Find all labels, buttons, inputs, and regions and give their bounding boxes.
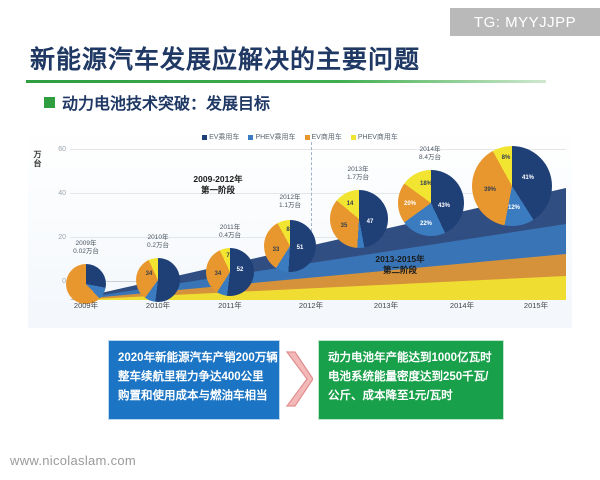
x-tick-2009: 2009年 xyxy=(74,300,98,311)
y-axis-title: 万台 xyxy=(32,150,43,168)
legend-item-ev-passenger: EV乘用车 xyxy=(202,132,239,142)
pie-2011-pct-phev-comm: 7 xyxy=(226,253,229,259)
annotation-stage-one: 2009-2012年 第一阶段 xyxy=(193,174,242,197)
pie-2015-pct-ev-comm: 39% xyxy=(484,187,496,193)
pie-caption-2009: 2009年 0.02万台 xyxy=(73,240,99,256)
pie-2015-pct-phev-comm: 8% xyxy=(502,155,511,161)
pie-2010-slice-pct: 34 xyxy=(146,271,153,277)
chart-panel: EV乘用车 PHEV乘用车 EV商用车 PHEV商用车 万台 60 40 20 … xyxy=(28,128,572,328)
chart-legend: EV乘用车 PHEV乘用车 EV商用车 PHEV商用车 xyxy=(28,132,572,142)
pie-2010 xyxy=(136,258,180,302)
pie-2011 xyxy=(206,248,254,296)
x-tick-2011: 2011年 xyxy=(218,300,242,311)
pie-year-label: 2014年 xyxy=(420,146,441,153)
pie-2012 xyxy=(264,220,316,272)
pie-total-label: 8.4万台 xyxy=(419,154,441,161)
chevron-right-icon xyxy=(285,348,313,410)
pie-2012-pct-ev-comm: 33 xyxy=(273,247,280,253)
y-tick-40: 40 xyxy=(50,190,66,197)
pie-2015 xyxy=(472,146,552,226)
section-subheading: 动力电池技术突破：发展目标 xyxy=(44,90,270,114)
pie-2013 xyxy=(330,190,388,248)
slide-canvas: TG: MYYJJPP 新能源汽车发展应解决的主要问题 动力电池技术突破：发展目… xyxy=(0,0,600,480)
pie-total-label: 0.02万台 xyxy=(73,248,99,255)
legend-label: EV乘用车 xyxy=(209,132,239,142)
pie-2011-pct-ev-pass: 52 xyxy=(237,267,244,273)
gridline xyxy=(70,149,566,150)
goal-line: 电池系统能量密度达到250千瓦/ xyxy=(328,368,494,387)
stage-two-label: 第二阶段 xyxy=(383,265,417,275)
pie-2014-pct-phev-comm: 18% xyxy=(420,181,432,187)
site-watermark: www.nicolaslam.com xyxy=(10,453,136,468)
pie-year-label: 2009年 xyxy=(76,240,97,247)
pie-caption-2013: 2013年 1.7万台 xyxy=(347,166,369,182)
pie-2012-pct-ev-pass: 51 xyxy=(297,245,304,251)
goal-box-battery-targets: 动力电池年产能达到1000亿瓦时 电池系统能量密度达到250千瓦/ 公斤、成本降… xyxy=(318,340,504,420)
y-tick-0: 0 xyxy=(50,278,66,285)
pie-total-label: 0.4万台 xyxy=(219,232,241,239)
pie-2014-pct-ev-comm: 20% xyxy=(404,201,416,207)
y-tick-60: 60 xyxy=(50,146,66,153)
pie-year-label: 2011年 xyxy=(220,224,240,231)
y-tick-20: 20 xyxy=(50,234,66,241)
pie-caption-2012: 2012年 1.1万台 xyxy=(279,194,301,210)
goal-line: 整车续航里程力争达400公里 xyxy=(118,368,270,387)
legend-label: PHEV乘用车 xyxy=(255,132,295,142)
legend-swatch-icon xyxy=(248,135,253,140)
pie-2015-pct-phev-pass: 12% xyxy=(508,205,520,211)
pie-2013-pct-phev-comm: 14 xyxy=(347,201,354,207)
legend-swatch-icon xyxy=(305,135,310,140)
page-title: 新能源汽车发展应解决的主要问题 xyxy=(30,40,420,76)
stage-two-period: 2013-2015年 xyxy=(375,254,424,264)
x-tick-2015: 2015年 xyxy=(524,300,548,311)
legend-swatch-icon xyxy=(351,135,356,140)
goal-line: 购置和使用成本与燃油车相当 xyxy=(118,387,270,406)
section-subheading-label: 动力电池技术突破：发展目标 xyxy=(62,90,270,114)
pie-total-label: 1.7万台 xyxy=(347,174,369,181)
legend-item-phev-passenger: PHEV乘用车 xyxy=(248,132,295,142)
pie-2011-pct-ev-comm: 34 xyxy=(215,271,222,277)
legend-swatch-icon xyxy=(202,135,207,140)
pie-2012-pct-phev-comm: 8 xyxy=(286,227,289,233)
stage-one-period: 2009-2012年 xyxy=(193,174,242,184)
gridline xyxy=(70,237,566,238)
pie-2014-pct-phev-pass: 22% xyxy=(420,221,432,227)
pie-caption-2011: 2011年 0.4万台 xyxy=(219,224,241,240)
title-divider xyxy=(26,80,546,83)
pie-year-label: 2013年 xyxy=(348,166,369,173)
pie-2009 xyxy=(66,264,106,304)
goal-line: 2020年新能源汽车产销200万辆 xyxy=(118,349,270,368)
x-tick-2012: 2012年 xyxy=(299,300,323,311)
pie-total-label: 1.1万台 xyxy=(279,202,301,209)
square-bullet-icon xyxy=(44,97,55,108)
pie-caption-2014: 2014年 8.4万台 xyxy=(419,146,441,162)
pie-2013-pct-ev-comm: 35 xyxy=(341,223,348,229)
legend-item-ev-commercial: EV商用车 xyxy=(305,132,342,142)
goal-line: 动力电池年产能达到1000亿瓦时 xyxy=(328,349,494,368)
pie-caption-2010: 2010年 0.2万台 xyxy=(147,234,169,250)
goal-box-vehicle-targets: 2020年新能源汽车产销200万辆 整车续航里程力争达400公里 购置和使用成本… xyxy=(108,340,280,420)
pie-2015-pct-ev-pass: 41% xyxy=(522,175,534,181)
legend-item-phev-commercial: PHEV商用车 xyxy=(351,132,398,142)
pie-year-label: 2012年 xyxy=(280,194,301,201)
stage-one-label: 第一阶段 xyxy=(201,185,235,195)
x-tick-2013: 2013年 xyxy=(374,300,398,311)
legend-label: PHEV商用车 xyxy=(358,132,398,142)
annotation-stage-two: 2013-2015年 第二阶段 xyxy=(375,254,424,277)
telegram-watermark-badge: TG: MYYJJPP xyxy=(450,8,600,36)
x-tick-2014: 2014年 xyxy=(450,300,474,311)
goal-line: 公斤、成本降至1元/瓦时 xyxy=(328,387,494,406)
x-tick-2010: 2010年 xyxy=(146,300,170,311)
pie-2013-pct-ev-pass: 47 xyxy=(367,219,374,225)
pie-2014-pct-ev-pass: 43% xyxy=(438,203,450,209)
legend-label: EV商用车 xyxy=(312,132,342,142)
pie-year-label: 2010年 xyxy=(148,234,169,241)
pie-total-label: 0.2万台 xyxy=(147,242,169,249)
